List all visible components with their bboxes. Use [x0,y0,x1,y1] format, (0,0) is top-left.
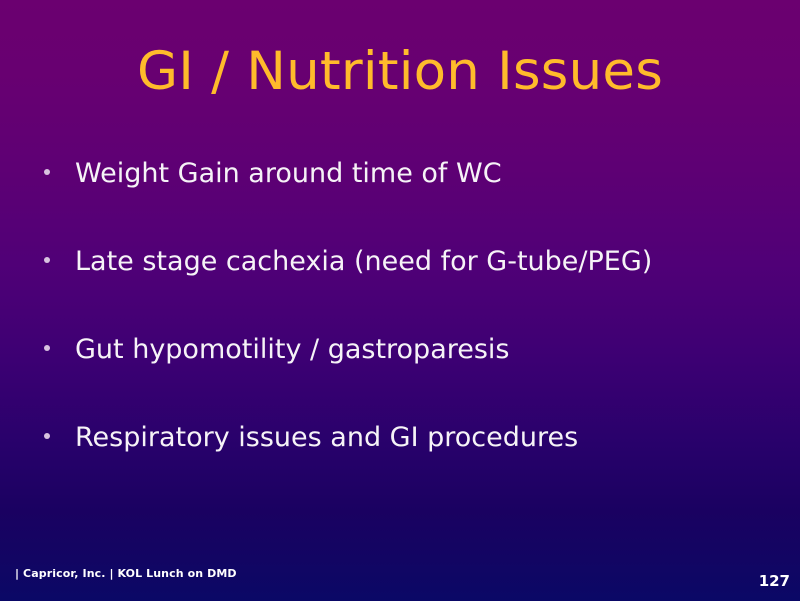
bullet-item-label: Gut hypomotility / gastroparesis [75,324,740,367]
list-item: Respiratory issues and GI procedures [0,412,740,500]
list-item: Gut hypomotility / gastroparesis [0,324,740,412]
bullet-dot-icon [44,433,50,439]
footer-event-label: | KOL Lunch on DMD [109,567,236,580]
footer-attribution: | Capricor, Inc. | KOL Lunch on DMD [15,567,237,581]
bullet-item-label: Late stage cachexia (need for G-tube/PEG… [75,236,740,279]
bullet-dot-icon [44,169,50,175]
bullet-dot-icon [44,345,50,351]
page-number: 127 [759,572,790,590]
slide-title: GI / Nutrition Issues [0,40,800,104]
list-item: Weight Gain around time of WC [0,148,740,236]
footer-company-label: | Capricor, Inc. [15,567,106,580]
bullet-list: Weight Gain around time of WC Late stage… [0,148,740,500]
bullet-dot-icon [44,257,50,263]
bullet-item-label: Respiratory issues and GI procedures [75,412,740,455]
bullet-item-label: Weight Gain around time of WC [75,148,740,191]
presentation-slide: GI / Nutrition Issues Weight Gain around… [0,0,800,601]
list-item: Late stage cachexia (need for G-tube/PEG… [0,236,740,324]
